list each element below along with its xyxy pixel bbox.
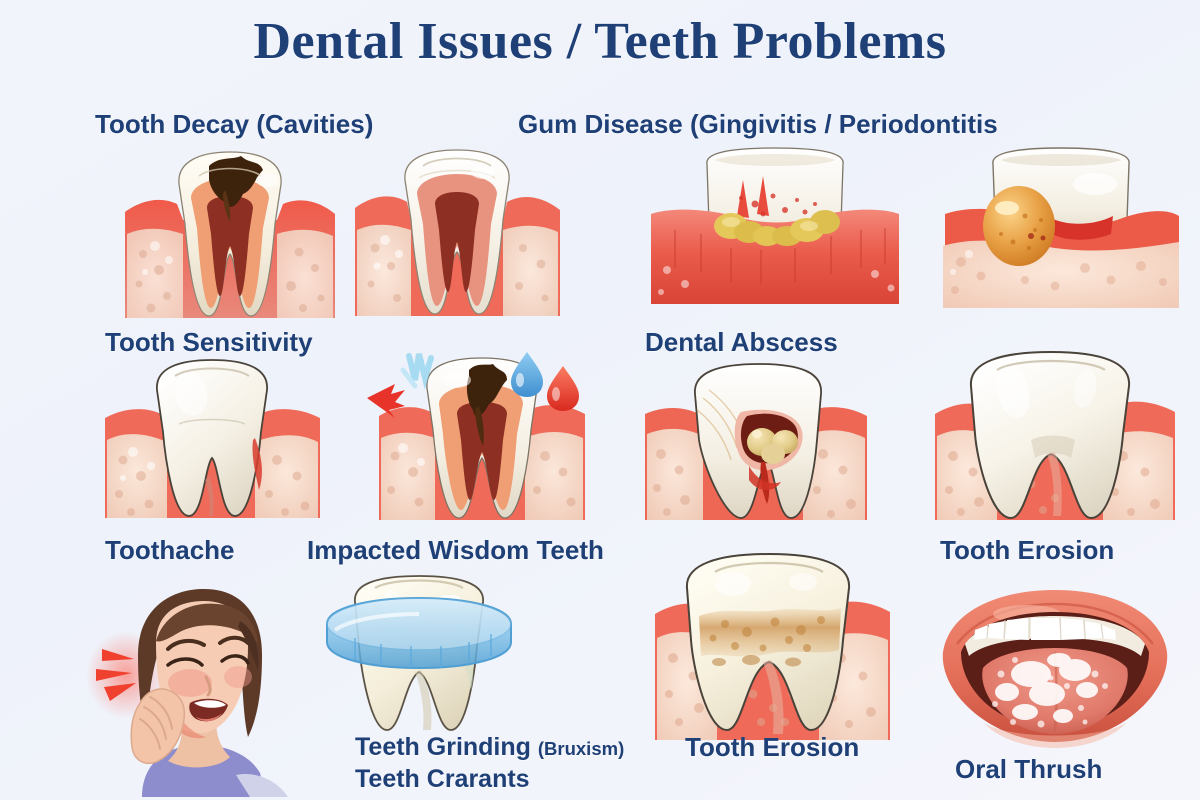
- label-text: Tooth Erosion: [940, 535, 1114, 565]
- cheek-blush-right: [224, 666, 252, 688]
- alveolar-bone-left: [381, 433, 435, 520]
- open-mouth-oral-thrush: [935, 582, 1175, 754]
- pus-globule: [761, 444, 785, 464]
- label-text: Impacted Wisdom Teeth: [307, 535, 604, 565]
- label-text: Tooth Sensitivity: [105, 327, 313, 357]
- abscess-pus-pocket: [983, 186, 1055, 266]
- cold-stimulus-icon: [403, 354, 431, 386]
- enamel-highlight: [471, 165, 495, 179]
- eroded-tooth-clean: [935, 352, 1175, 520]
- enamel-highlight-2: [789, 573, 817, 591]
- cold-droplet-icon: [511, 352, 543, 397]
- erosion-band: [699, 608, 841, 656]
- enamel-highlight: [1073, 173, 1117, 195]
- label-text: Gum Disease (Gingivitis / Periodontitis: [518, 109, 998, 139]
- label-text: Teeth Crarants: [355, 765, 530, 793]
- label-text: Oral Thrush: [955, 754, 1102, 784]
- alveolar-bone-left: [647, 429, 703, 520]
- label-subtext: (Bruxism): [538, 738, 624, 759]
- mouthguard: [327, 598, 511, 668]
- label-text: Teeth Grinding: [355, 733, 531, 761]
- pus-highlight: [752, 430, 762, 438]
- enamel-highlight: [256, 173, 278, 187]
- label-toothache: Toothache: [105, 536, 235, 566]
- enamel-highlight: [715, 572, 751, 596]
- eroded-tooth-stained: [655, 558, 890, 740]
- gum-abscess-swelling: [935, 150, 1185, 308]
- abscess-highlight: [995, 201, 1019, 215]
- healthy-tooth-cross-section: [355, 148, 560, 316]
- dental-abscess-pus-pocket: [645, 362, 880, 520]
- label-text: Toothache: [105, 535, 235, 565]
- woman-toothache: [90, 585, 310, 797]
- label-teeth-crarants: Teeth Crarants: [355, 765, 530, 794]
- label-tooth-erosion-middle: Tooth Erosion: [940, 536, 1114, 566]
- tooth-with-mouthguard: [315, 580, 525, 732]
- label-gum-disease: Gum Disease (Gingivitis / Periodontitis: [518, 110, 998, 140]
- label-dental-abscess: Dental Abscess: [645, 328, 838, 358]
- label-tooth-sensitivity: Tooth Sensitivity: [105, 328, 313, 358]
- label-text: Tooth Erosion: [685, 732, 859, 762]
- hot-droplet-icon: [547, 366, 579, 411]
- page-title: Dental Issues / Teeth Problems: [0, 12, 1200, 71]
- label-tooth-decay: Tooth Decay (Cavities): [95, 110, 373, 140]
- gum-disease-plaque: [645, 152, 905, 304]
- label-text: Tooth Decay (Cavities): [95, 109, 373, 139]
- alveolar-bone-right: [525, 432, 583, 520]
- sensitivity-hot-cold-tooth: [365, 352, 600, 520]
- label-text: Dental Abscess: [645, 327, 838, 357]
- label-impacted-wisdom-teeth: Impacted Wisdom Teeth: [307, 536, 604, 566]
- infographic-canvas: Dental Issues / Teeth Problems: [0, 0, 1200, 800]
- label-tooth-erosion-bottom: Tooth Erosion: [685, 733, 859, 763]
- enamel-highlight: [443, 372, 471, 388]
- label-oral-thrush: Oral Thrush: [955, 755, 1102, 785]
- label-teeth-grinding: Teeth Grinding (Bruxism): [355, 733, 624, 762]
- decayed-tooth-cross-section: [125, 150, 335, 318]
- alveolar-bone-right: [503, 226, 558, 316]
- sensitive-tooth-whole: [105, 360, 320, 518]
